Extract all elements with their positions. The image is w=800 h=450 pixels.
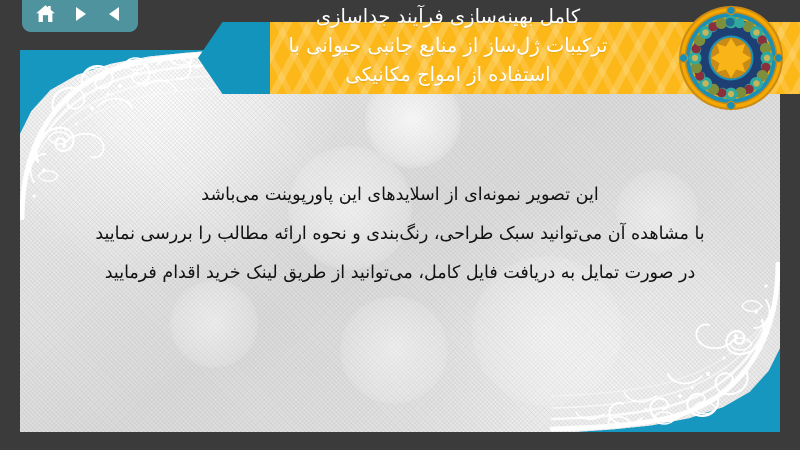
content-panel: این تصویر نمونه‌ای از اسلایدهای این پاور… xyxy=(20,50,780,432)
slide-root: کامل بهینه‌سازی فرآیند جداسازی ترکیبات ژ… xyxy=(0,0,800,450)
content-panel-surface: این تصویر نمونه‌ای از اسلایدهای این پاور… xyxy=(20,50,780,432)
navigation-button-bar xyxy=(22,0,138,32)
bokeh-circle xyxy=(170,280,258,368)
triangle-left-icon xyxy=(106,5,124,23)
bokeh-circle xyxy=(472,256,622,406)
home-icon xyxy=(35,4,56,24)
body-line-3: در صورت تمایل به دریافت فایل کامل، می‌تو… xyxy=(60,254,740,293)
bokeh-circle xyxy=(340,296,448,404)
previous-slide-button[interactable] xyxy=(100,1,130,27)
body-line-2: با مشاهده آن می‌توانید سبک طراحی، رنگ‌بن… xyxy=(60,215,740,254)
persian-medallion-ornament xyxy=(677,4,785,112)
next-slide-button[interactable] xyxy=(65,1,95,27)
home-button[interactable] xyxy=(30,1,60,27)
panel-hatch-texture xyxy=(20,50,780,432)
bokeh-circle xyxy=(616,170,698,252)
triangle-right-icon xyxy=(71,5,89,23)
body-line-1: این تصویر نمونه‌ای از اسلایدهای این پاور… xyxy=(60,176,740,215)
bokeh-circle xyxy=(288,146,412,270)
slide-body-text: این تصویر نمونه‌ای از اسلایدهای این پاور… xyxy=(20,176,780,293)
